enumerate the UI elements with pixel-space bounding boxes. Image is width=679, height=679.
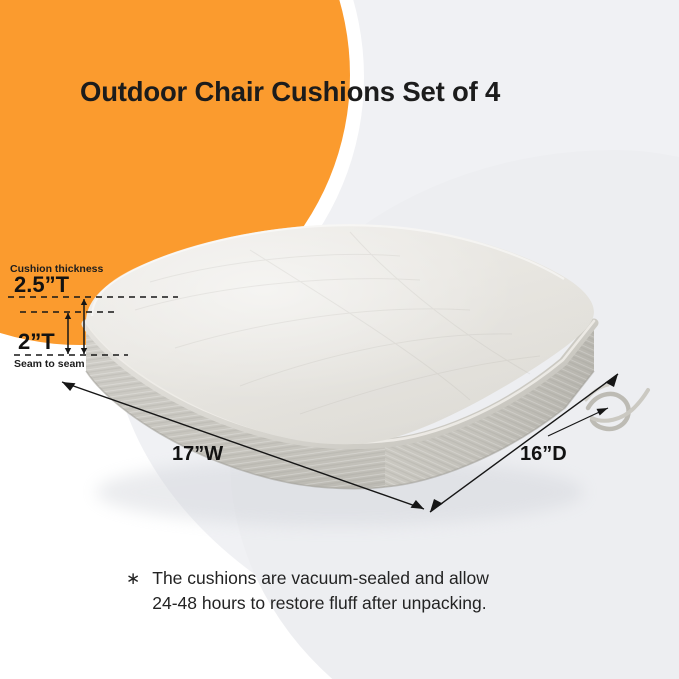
depth-value: 16”D xyxy=(520,443,567,466)
footnote-line-1: The cushions are vacuum-sealed and allow xyxy=(152,566,489,591)
cushion-thickness-value: 2.5”T xyxy=(14,272,69,298)
footnote-marker: ∗ xyxy=(126,566,140,591)
product-infographic: Outdoor Chair Cushions Set of 4 xyxy=(0,0,679,679)
seam-to-seam-value: 2”T xyxy=(18,329,55,355)
footnote-line-2: 24-48 hours to restore fluff after unpac… xyxy=(152,591,489,616)
seam-to-seam-caption: Seam to seam xyxy=(14,358,85,370)
footnote: ∗ The cushions are vacuum-sealed and all… xyxy=(126,566,489,616)
width-value: 17”W xyxy=(172,443,223,466)
footnote-text: The cushions are vacuum-sealed and allow… xyxy=(152,566,489,616)
fabric-tie-loop-icon xyxy=(586,385,648,429)
page-title: Outdoor Chair Cushions Set of 4 xyxy=(80,76,500,108)
